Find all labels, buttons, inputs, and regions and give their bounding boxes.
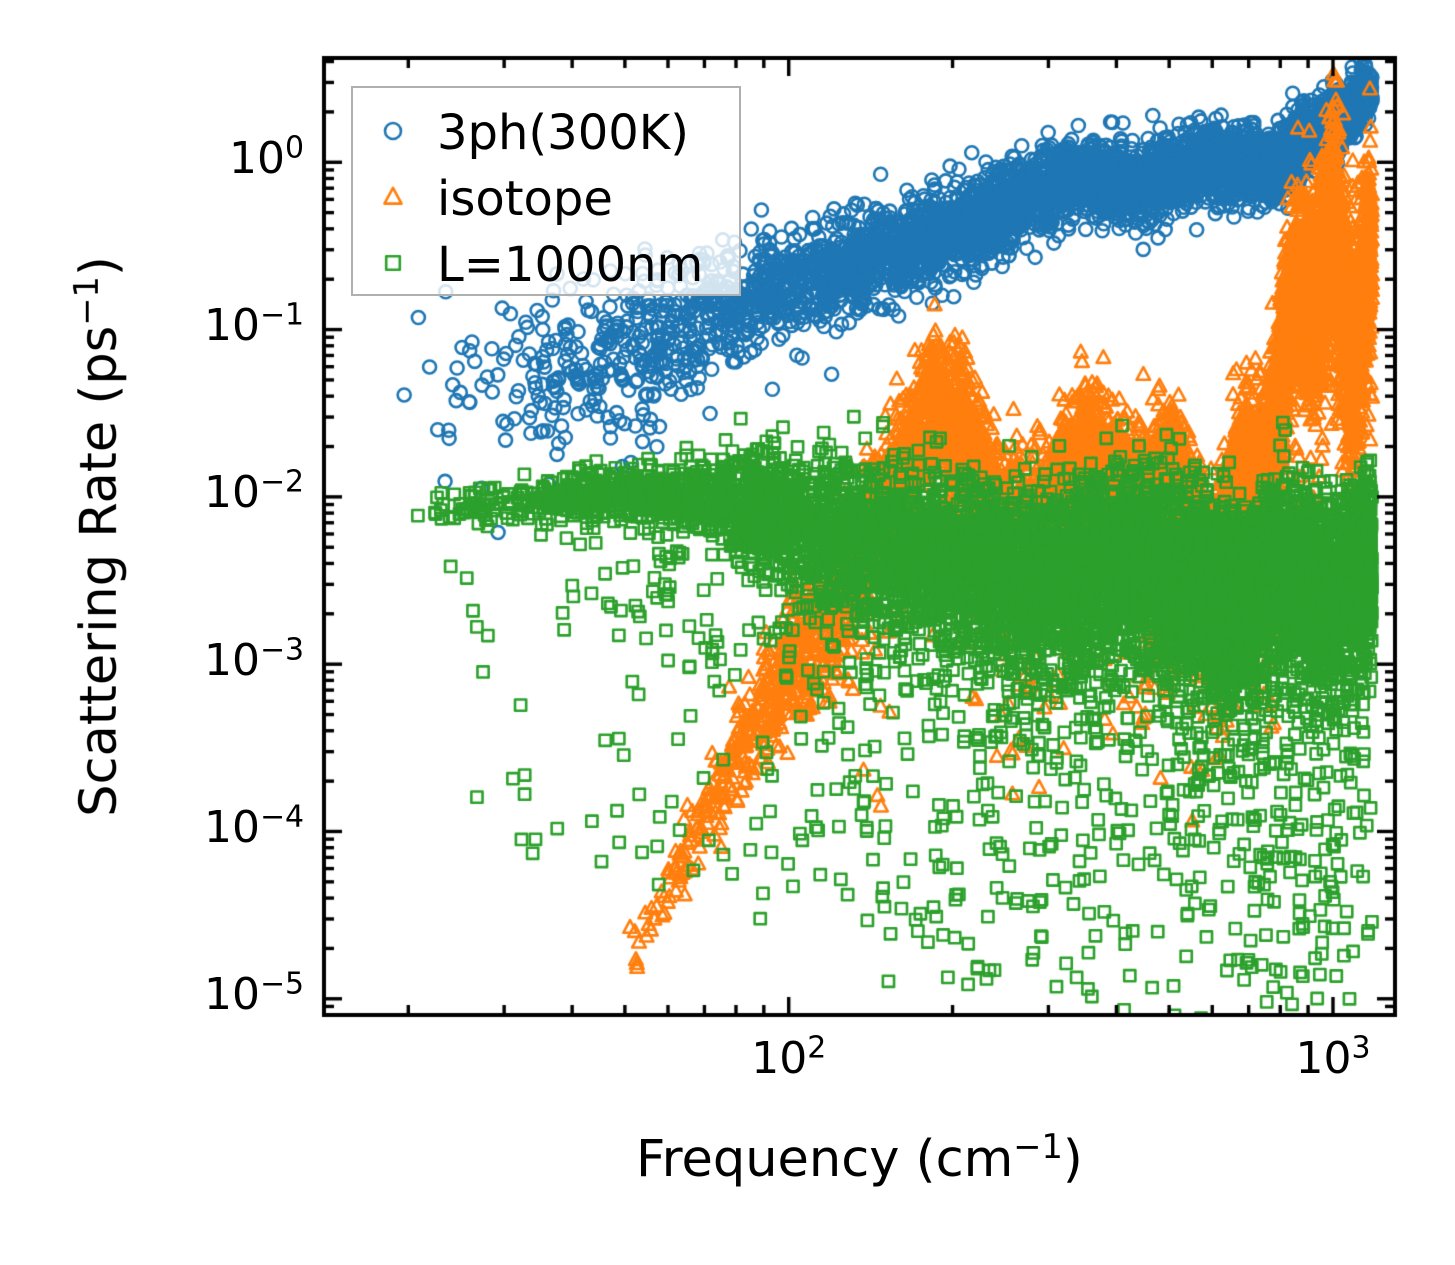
y-tick-label: 10−1 <box>204 300 304 351</box>
legend-item-label: 3ph(300K) <box>437 105 689 161</box>
y-axis-title: Scattering Rate (ps−1) <box>70 256 129 817</box>
square-marker-icon <box>371 241 415 289</box>
legend-item-triangle[interactable]: isotope <box>371 168 613 230</box>
legend-item-label: L=1000nm <box>437 237 703 293</box>
circle-marker-icon <box>371 109 415 157</box>
x-tick-label: 102 <box>751 1033 826 1084</box>
y-tick-label: 10−5 <box>204 969 304 1020</box>
legend-item-circle[interactable]: 3ph(300K) <box>371 102 689 164</box>
legend-item-square[interactable]: L=1000nm <box>371 234 703 296</box>
y-tick-label: 10−2 <box>204 467 304 518</box>
scatter-plot-figure: Scattering Rate (ps−1) Frequency (cm−1) … <box>0 0 1455 1265</box>
x-tick-label: 103 <box>1295 1033 1370 1084</box>
y-tick-label: 100 <box>229 133 304 184</box>
y-tick-label: 10−3 <box>204 635 304 686</box>
triangle-marker-icon <box>371 175 415 223</box>
legend-item-label: isotope <box>437 171 613 227</box>
y-tick-label: 10−4 <box>204 802 304 853</box>
x-axis-title: Frequency (cm−1) <box>636 1130 1083 1189</box>
legend: 3ph(300K)isotopeL=1000nm <box>351 86 741 296</box>
